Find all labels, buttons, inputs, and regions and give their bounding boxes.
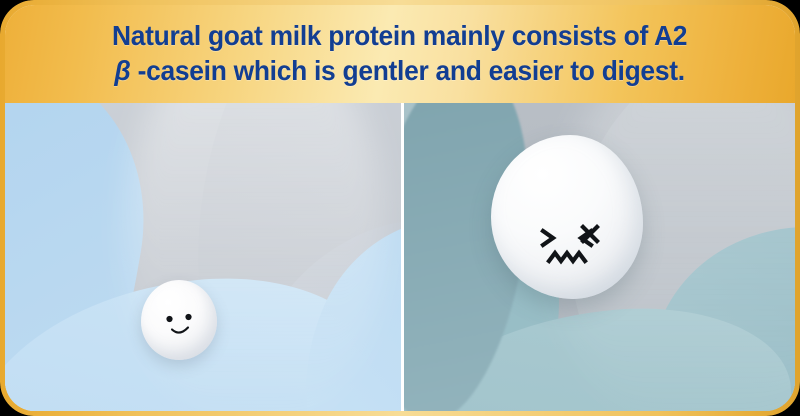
goat-grey-shape-3	[207, 177, 401, 411]
goat-grey-shape-2	[144, 103, 401, 411]
cow-milk-droplet	[491, 135, 643, 299]
header-line-2: β -casein which is gentler and easier to…	[112, 54, 687, 89]
cow-milk-panel: Cow Milk	[404, 103, 795, 411]
goat-milk-droplet	[141, 280, 217, 360]
header-line-2-text: -casein which is gentler and easier to d…	[138, 55, 685, 86]
cow-droplet-face	[491, 135, 643, 299]
beta-symbol: β	[115, 55, 131, 86]
infographic-card: Natural goat milk protein mainly consist…	[0, 0, 800, 416]
goat-grey-shape-1	[15, 103, 401, 411]
goat-panel-background	[5, 103, 401, 411]
header-line-1: Natural goat milk protein mainly consist…	[112, 19, 687, 54]
goat-light-sheen	[125, 103, 385, 411]
header-text: Natural goat milk protein mainly consist…	[91, 19, 708, 89]
cow-teal-shape-bottom	[404, 295, 795, 411]
goat-blue-shape-right	[253, 176, 401, 411]
goat-milk-panel: Goat Milk	[5, 103, 401, 411]
goat-blue-shape-left	[5, 103, 169, 411]
comparison-panels: Goat Milk	[5, 103, 795, 411]
header-banner: Natural goat milk protein mainly consist…	[5, 5, 795, 103]
card-inner: Natural goat milk protein mainly consist…	[5, 5, 795, 411]
goat-droplet-face	[141, 280, 217, 360]
